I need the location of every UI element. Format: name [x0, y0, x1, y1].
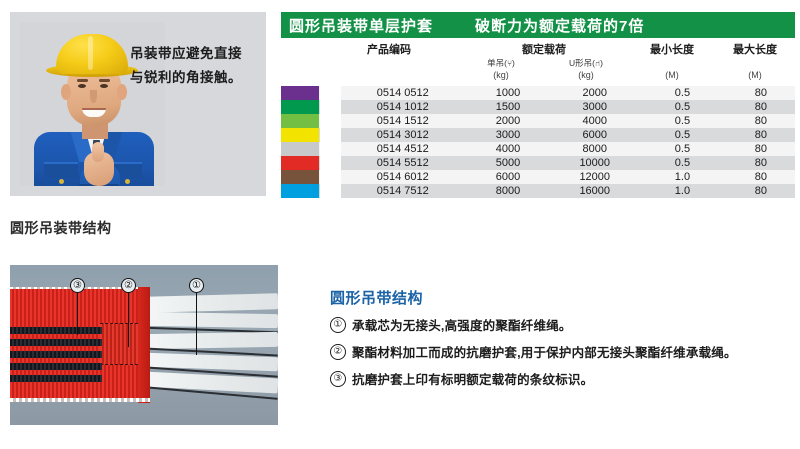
load-stripe — [10, 339, 102, 346]
description-marker: ① — [330, 317, 346, 333]
table-row: 0514 4512400080000.580 — [281, 142, 795, 156]
table-row: 0514 1012150030000.580 — [281, 100, 795, 114]
colhead-ushape: U形吊(⑁) — [543, 57, 629, 69]
safety-caption-line2: 与锐利的角接触。 — [130, 66, 262, 90]
product-spec-page: 吊装带应避免直接 与锐利的角接触。 圆形吊装带单层护套 破断力为额定载荷的7倍 … — [0, 0, 800, 449]
cell-max-length: 80 — [727, 156, 795, 170]
table-row: 0514 60126000120001.080 — [281, 170, 795, 184]
eyebrow-right — [99, 79, 110, 82]
swatch-yellow — [281, 128, 319, 142]
table-row: 0514 0512100020000.580 — [281, 86, 795, 100]
table-header-bar: 圆形吊装带单层护套 破断力为额定载荷的7倍 — [281, 12, 795, 38]
jacket-button-right — [125, 179, 130, 184]
eye-left — [78, 84, 86, 88]
safety-photo-panel: 吊装带应避免直接 与锐利的角接触。 — [10, 12, 266, 196]
cell-product-code: 0514 1012 — [341, 100, 465, 114]
colhead-unit-m-2: (M) — [715, 70, 795, 80]
safety-caption-line1: 吊装带应避免直接 — [130, 42, 262, 66]
colhead-unit-m-1: (M) — [629, 70, 715, 80]
callout-marker-2: ② — [121, 278, 136, 293]
row-gap-cell — [320, 100, 341, 114]
row-gap-cell — [320, 142, 341, 156]
helmet-ridge — [88, 36, 93, 70]
load-bearing-core-fibers — [144, 289, 278, 403]
cell-max-length: 80 — [727, 128, 795, 142]
color-swatch-cell — [281, 114, 320, 128]
eye-right — [100, 84, 108, 88]
color-swatch-cell — [281, 128, 320, 142]
cell-single-load: 8000 — [465, 184, 552, 198]
structure-description: 圆形吊带结构 ①承载芯为无接头,高强度的聚酯纤维绳。②聚酯材料加工而成的抗磨护套… — [330, 287, 792, 398]
fiber-strand — [144, 293, 278, 313]
swatch-blue — [281, 184, 319, 198]
swatch-red — [281, 156, 319, 170]
cell-min-length: 0.5 — [638, 100, 727, 114]
description-title: 圆形吊带结构 — [330, 287, 792, 308]
cell-product-code: 0514 4512 — [341, 142, 465, 156]
cell-product-code: 0514 7512 — [341, 184, 465, 198]
swatch-purple — [281, 86, 319, 100]
colhead-load-group: 额定载荷 — [459, 41, 629, 57]
section-title: 圆形吊装带结构 — [10, 218, 112, 238]
safety-caption: 吊装带应避免直接 与锐利的角接触。 — [130, 42, 262, 89]
cell-product-code: 0514 1512 — [341, 114, 465, 128]
load-stripe — [10, 375, 102, 382]
color-swatch-cell — [281, 142, 320, 156]
row-gap-cell — [320, 184, 341, 198]
description-marker: ③ — [330, 371, 346, 387]
cell-min-length: 1.0 — [638, 170, 727, 184]
color-swatch-cell — [281, 170, 320, 184]
description-item: ②聚酯材料加工而成的抗磨护套,用于保护内部无接头聚酯纤维承载绳。 — [330, 344, 792, 362]
spec-table: 0514 0512100020000.5800514 1012150030000… — [281, 86, 795, 198]
callout-marker-1: ① — [189, 278, 204, 293]
swatch-light-green — [281, 114, 319, 128]
cell-max-length: 80 — [727, 114, 795, 128]
cell-min-length: 0.5 — [638, 86, 727, 100]
table-header-title: 圆形吊装带单层护套 — [289, 15, 433, 36]
callout-leader-1 — [196, 293, 197, 355]
cell-min-length: 1.0 — [638, 184, 727, 198]
cell-max-length: 80 — [727, 170, 795, 184]
spec-table-body: 0514 0512100020000.5800514 1012150030000… — [281, 86, 795, 198]
eyebrow-left — [77, 79, 88, 82]
cell-product-code: 0514 6012 — [341, 170, 465, 184]
cell-max-length: 80 — [727, 86, 795, 100]
nose-shape — [90, 90, 97, 103]
callout-leader-3 — [77, 293, 78, 335]
fiber-strand — [144, 332, 278, 349]
cell-single-load: 3000 — [465, 128, 552, 142]
row-gap-cell — [320, 114, 341, 128]
cell-max-length: 80 — [727, 184, 795, 198]
colhead-single: 单吊(⑂) — [459, 57, 543, 69]
thumbs-up-icon — [92, 142, 104, 162]
color-swatch-cell — [281, 86, 320, 100]
cell-u-load: 2000 — [551, 86, 638, 100]
table-column-headers: 产品编码 额定载荷 单吊(⑂) U形吊(⑁) (kg) (kg) 最小长度 (M… — [281, 38, 795, 86]
table-row: 0514 55125000100000.580 — [281, 156, 795, 170]
table-row: 0514 75128000160001.080 — [281, 184, 795, 198]
cell-u-load: 16000 — [551, 184, 638, 198]
table-header-note: 破断力为额定载荷的7倍 — [475, 15, 644, 36]
webbing-end — [138, 287, 150, 403]
cell-product-code: 0514 0512 — [341, 86, 465, 100]
cell-u-load: 8000 — [551, 142, 638, 156]
callout-marker-3: ③ — [70, 278, 85, 293]
swatch-brown — [281, 170, 319, 184]
webbing-edge-bottom — [10, 398, 150, 402]
cell-u-load: 3000 — [551, 100, 638, 114]
cell-u-load: 6000 — [551, 128, 638, 142]
row-gap-cell — [320, 156, 341, 170]
table-row: 0514 1512200040000.580 — [281, 114, 795, 128]
sling-structure-photo: ③ ② ① — [10, 265, 278, 425]
cell-single-load: 1000 — [465, 86, 552, 100]
callout-leader-2 — [128, 293, 129, 347]
colhead-unit-kg-1: (kg) — [459, 70, 543, 80]
cell-max-length: 80 — [727, 100, 795, 114]
cell-max-length: 80 — [727, 142, 795, 156]
jacket-pocket-left — [44, 162, 78, 178]
color-swatch-cell — [281, 100, 320, 114]
spec-table-block: 圆形吊装带单层护套 破断力为额定载荷的7倍 产品编码 额定载荷 单吊(⑂) U形… — [281, 12, 795, 206]
description-item: ①承载芯为无接头,高强度的聚酯纤维绳。 — [330, 317, 792, 335]
cell-single-load: 6000 — [465, 170, 552, 184]
cell-single-load: 5000 — [465, 156, 552, 170]
description-text: 承载芯为无接头,高强度的聚酯纤维绳。 — [352, 317, 572, 335]
load-stripe — [10, 351, 102, 358]
load-stripe — [10, 363, 102, 370]
swatch-grey — [281, 142, 319, 156]
row-gap-cell — [320, 170, 341, 184]
table-footer-spacer — [281, 198, 795, 206]
row-gap-cell — [320, 86, 341, 100]
colhead-min-length: 最小长度 — [629, 41, 715, 57]
load-stripe — [10, 327, 102, 334]
jacket-button-left — [59, 179, 64, 184]
cell-min-length: 0.5 — [638, 114, 727, 128]
ear-right — [117, 84, 127, 100]
swatch-green — [281, 100, 319, 114]
cell-product-code: 0514 3012 — [341, 128, 465, 142]
color-swatch-cell — [281, 184, 320, 198]
description-list: ①承载芯为无接头,高强度的聚酯纤维绳。②聚酯材料加工而成的抗磨护套,用于保护内部… — [330, 317, 792, 389]
cell-min-length: 0.5 — [638, 142, 727, 156]
cell-u-load: 12000 — [551, 170, 638, 184]
description-text: 聚酯材料加工而成的抗磨护套,用于保护内部无接头聚酯纤维承载绳。 — [352, 344, 737, 362]
cell-product-code: 0514 5512 — [341, 156, 465, 170]
cell-single-load: 4000 — [465, 142, 552, 156]
colhead-max-length: 最大长度 — [715, 41, 795, 57]
color-swatch-cell — [281, 156, 320, 170]
colhead-unit-kg-2: (kg) — [543, 70, 629, 80]
cell-single-load: 1500 — [465, 100, 552, 114]
cell-u-load: 4000 — [551, 114, 638, 128]
cell-min-length: 0.5 — [638, 128, 727, 142]
cell-u-load: 10000 — [551, 156, 638, 170]
colhead-code: 产品编码 — [319, 41, 459, 57]
cell-min-length: 0.5 — [638, 156, 727, 170]
ear-left — [61, 84, 71, 100]
cell-single-load: 2000 — [465, 114, 552, 128]
fiber-strand — [144, 312, 278, 328]
description-text: 抗磨护套上印有标明额定载荷的条纹标识。 — [352, 371, 593, 389]
description-item: ③抗磨护套上印有标明额定载荷的条纹标识。 — [330, 371, 792, 389]
description-marker: ② — [330, 344, 346, 360]
table-row: 0514 3012300060000.580 — [281, 128, 795, 142]
row-gap-cell — [320, 128, 341, 142]
